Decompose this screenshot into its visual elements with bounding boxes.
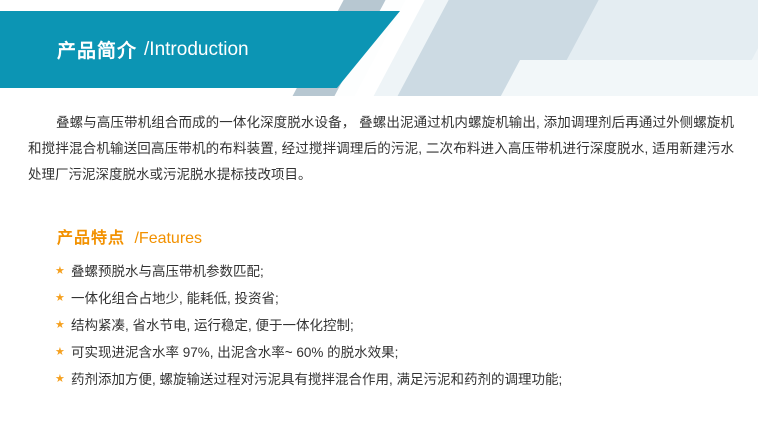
features-heading-cn: 产品特点 xyxy=(57,230,125,247)
list-item: ★ 可实现进泥含水率 97%, 出泥含水率~ 60% 的脱水效果; xyxy=(55,339,745,366)
star-icon: ★ xyxy=(55,285,71,312)
star-icon: ★ xyxy=(55,366,71,393)
list-item: ★ 结构紧凑, 省水节电, 运行稳定, 便于一体化控制; xyxy=(55,312,745,339)
features-heading: 产品特点 /Features xyxy=(57,224,202,248)
list-item-label: 药剂添加方便, 螺旋输送过程对污泥具有搅拌混合作用, 满足污泥和药剂的调理功能; xyxy=(71,366,562,393)
list-item-label: 一体化组合占地少, 能耗低, 投资省; xyxy=(71,285,279,312)
list-item: ★ 一体化组合占地少, 能耗低, 投资省; xyxy=(55,285,745,312)
features-list: ★ 叠螺预脱水与高压带机参数匹配; ★ 一体化组合占地少, 能耗低, 投资省; … xyxy=(55,258,745,393)
introduction-paragraph: 叠螺与高压带机组合而成的一体化深度脱水设备， 叠螺出泥通过机内螺旋机输出, 添加… xyxy=(28,110,734,188)
list-item-label: 叠螺预脱水与高压带机参数匹配; xyxy=(71,258,264,285)
section-header-title: 产品简介 /Introduction xyxy=(57,11,249,88)
star-icon: ★ xyxy=(55,258,71,285)
list-item: ★ 药剂添加方便, 螺旋输送过程对污泥具有搅拌混合作用, 满足污泥和药剂的调理功… xyxy=(55,366,745,393)
decorative-parallelogram-3 xyxy=(530,0,758,96)
star-icon: ★ xyxy=(55,312,71,339)
list-item-label: 结构紧凑, 省水节电, 运行稳定, 便于一体化控制; xyxy=(71,312,354,339)
section-header-title-en: /Introduction xyxy=(144,39,249,61)
decorative-parallelogram-1 xyxy=(361,0,758,96)
features-heading-en: /Features xyxy=(134,230,202,247)
decorative-parallelogram-2 xyxy=(395,0,605,96)
decorative-parallelogram-6 xyxy=(488,60,758,96)
section-header-title-cn: 产品简介 xyxy=(57,36,137,63)
list-item: ★ 叠螺预脱水与高压带机参数匹配; xyxy=(55,258,745,285)
list-item-label: 可实现进泥含水率 97%, 出泥含水率~ 60% 的脱水效果; xyxy=(71,339,398,366)
star-icon: ★ xyxy=(55,339,71,366)
